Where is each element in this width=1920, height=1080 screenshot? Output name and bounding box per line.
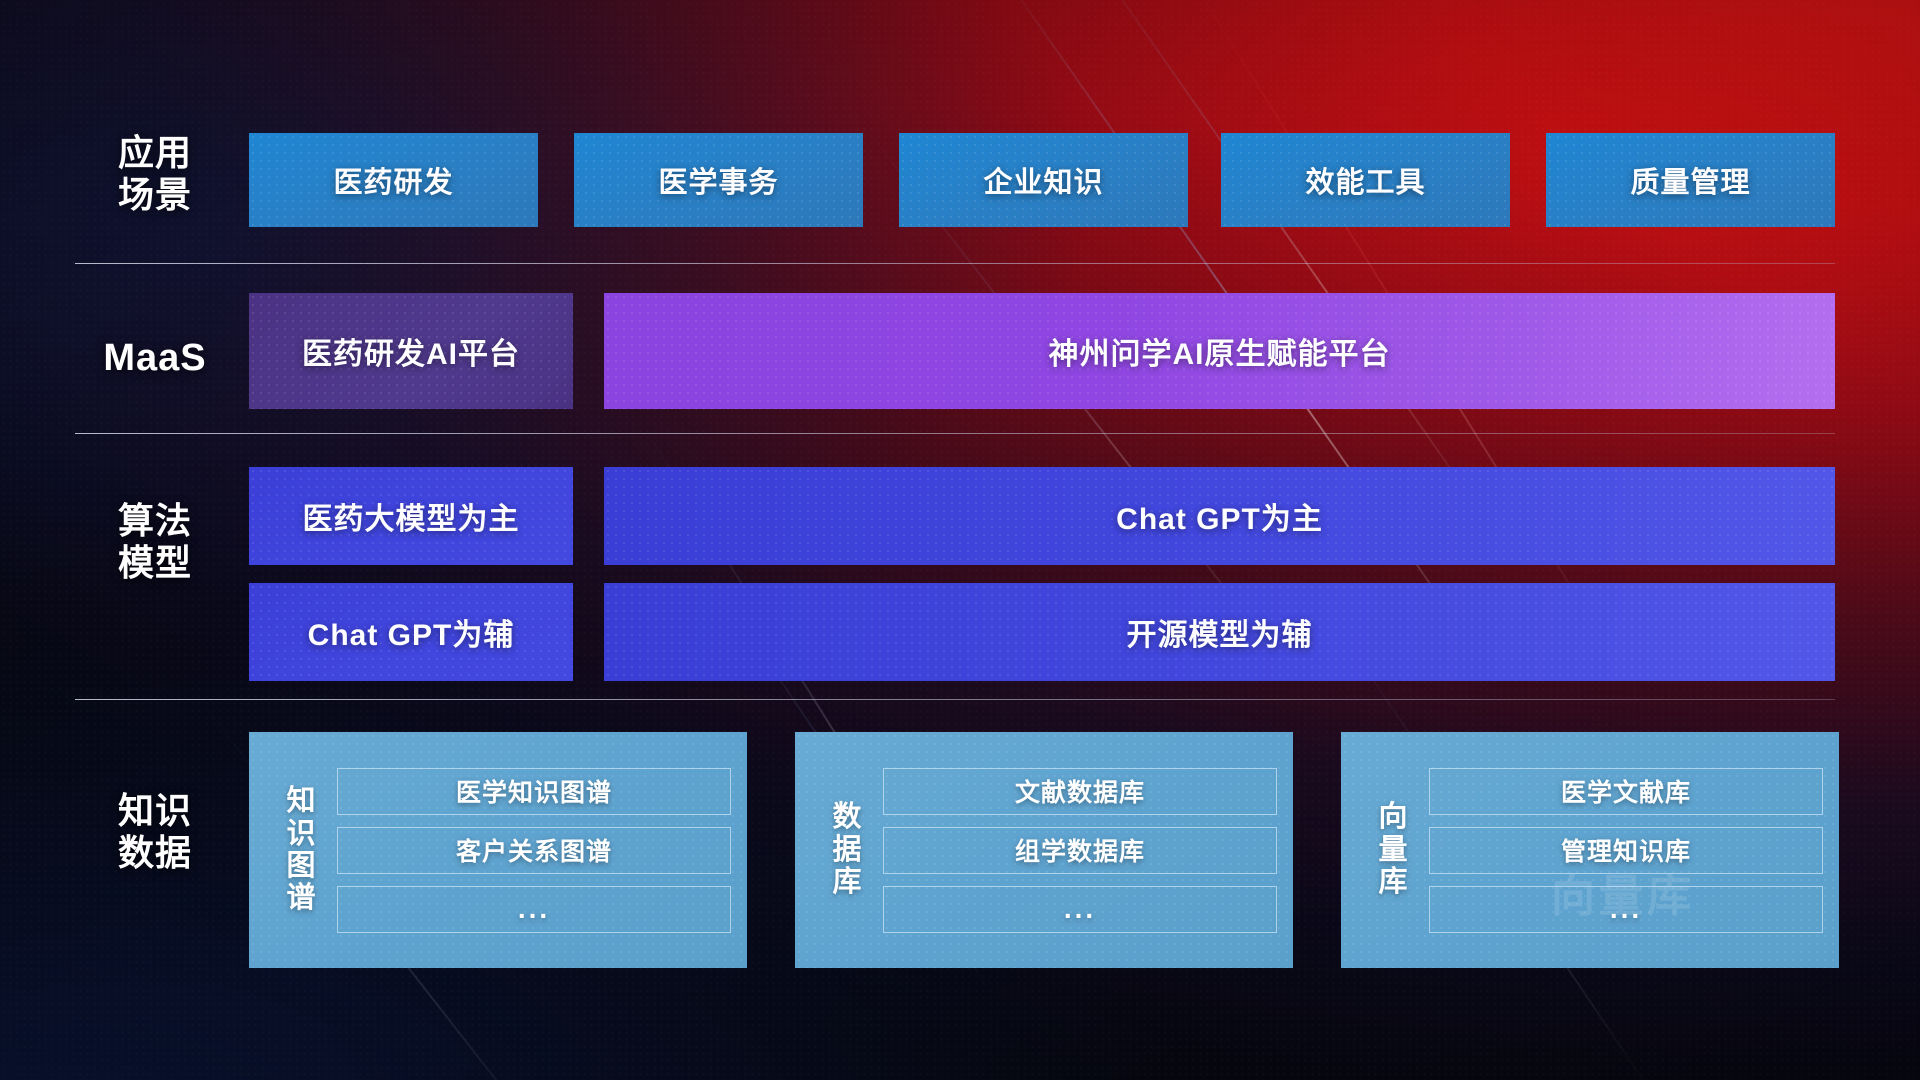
knowledge-item-graph-2[interactable]: 客户关系图谱 <box>337 827 731 874</box>
knowledge-item-vector-2-label: 管理知识库 <box>1561 832 1691 868</box>
knowledge-group-database-items: 文献数据库 组学数据库 ... <box>883 768 1277 933</box>
app-box-5-label: 质量管理 <box>1630 159 1750 201</box>
knowledge-item-database-1[interactable]: 文献数据库 <box>883 768 1277 815</box>
algo-box-opensource-secondary-label: 开源模型为辅 <box>1127 610 1313 654</box>
row-label-maas: MaaS <box>75 336 235 381</box>
divider-application-maas <box>75 263 1835 264</box>
knowledge-group-graph-title: 知 识 图 谱 <box>273 785 329 915</box>
knowledge-item-graph-1-label: 医学知识图谱 <box>456 773 612 809</box>
maas-box-drug-ai-platform-label: 医药研发AI平台 <box>302 329 520 373</box>
app-box-3[interactable]: 企业知识 <box>899 133 1188 227</box>
knowledge-item-database-2-label: 组学数据库 <box>1015 832 1145 868</box>
algo-box-opensource-secondary[interactable]: 开源模型为辅 <box>604 583 1835 681</box>
row-label-knowledge: 知识 数据 <box>75 790 235 875</box>
divider-maas-algorithm <box>75 433 1835 434</box>
knowledge-item-graph-3-label: ... <box>518 893 550 925</box>
row-label-application: 应用 场景 <box>75 132 235 217</box>
knowledge-group-database: 数 据 库 文献数据库 组学数据库 ... <box>795 732 1293 968</box>
knowledge-item-graph-1[interactable]: 医学知识图谱 <box>337 768 731 815</box>
app-box-1[interactable]: 医药研发 <box>249 133 538 227</box>
divider-algorithm-knowledge <box>75 699 1835 700</box>
knowledge-item-graph-2-label: 客户关系图谱 <box>456 832 612 868</box>
slide-canvas: 应用 场景 医药研发 医学事务 企业知识 效能工具 质量管理 MaaS 医药研发… <box>0 0 1920 1080</box>
knowledge-item-vector-2[interactable]: 管理知识库 <box>1429 827 1823 874</box>
knowledge-item-vector-1[interactable]: 医学文献库 <box>1429 768 1823 815</box>
knowledge-item-vector-1-label: 医学文献库 <box>1561 773 1691 809</box>
app-box-2-label: 医学事务 <box>658 159 778 201</box>
knowledge-group-database-title: 数 据 库 <box>819 801 875 898</box>
algo-box-chatgpt-primary[interactable]: Chat GPT为主 <box>604 467 1835 565</box>
maas-box-shenzhou-platform[interactable]: 神州问学AI原生赋能平台 <box>604 293 1835 409</box>
maas-box-drug-ai-platform[interactable]: 医药研发AI平台 <box>249 293 573 409</box>
algo-box-drug-model-primary[interactable]: 医药大模型为主 <box>249 467 573 565</box>
maas-box-shenzhou-platform-label: 神州问学AI原生赋能平台 <box>1049 329 1391 373</box>
app-box-1-label: 医药研发 <box>333 159 453 201</box>
app-box-2[interactable]: 医学事务 <box>574 133 863 227</box>
app-box-4-label: 效能工具 <box>1305 159 1425 201</box>
algo-box-drug-model-primary-label: 医药大模型为主 <box>303 494 520 538</box>
knowledge-group-vector-items: 医学文献库 管理知识库 ... <box>1429 768 1823 933</box>
diagram-content: 应用 场景 医药研发 医学事务 企业知识 效能工具 质量管理 MaaS 医药研发… <box>0 0 1920 1080</box>
knowledge-item-database-3-label: ... <box>1064 893 1096 925</box>
knowledge-item-database-2[interactable]: 组学数据库 <box>883 827 1277 874</box>
app-box-5[interactable]: 质量管理 <box>1546 133 1835 227</box>
knowledge-item-database-1-label: 文献数据库 <box>1015 773 1145 809</box>
knowledge-group-vector: 向量库 向 量 库 医学文献库 管理知识库 ... <box>1341 732 1839 968</box>
row-label-algorithm: 算法 模型 <box>75 500 235 585</box>
algo-box-chatgpt-primary-label: Chat GPT为主 <box>1116 494 1323 538</box>
knowledge-item-vector-3[interactable]: ... <box>1429 886 1823 933</box>
app-box-4[interactable]: 效能工具 <box>1221 133 1510 227</box>
knowledge-item-vector-3-label: ... <box>1610 893 1642 925</box>
app-box-3-label: 企业知识 <box>983 159 1103 201</box>
knowledge-group-graph-items: 医学知识图谱 客户关系图谱 ... <box>337 768 731 933</box>
knowledge-item-graph-3[interactable]: ... <box>337 886 731 933</box>
algo-box-chatgpt-secondary-label: Chat GPT为辅 <box>308 610 515 654</box>
knowledge-group-vector-title: 向 量 库 <box>1365 801 1421 898</box>
knowledge-item-database-3[interactable]: ... <box>883 886 1277 933</box>
knowledge-group-graph: 知 识 图 谱 医学知识图谱 客户关系图谱 ... <box>249 732 747 968</box>
algo-box-chatgpt-secondary[interactable]: Chat GPT为辅 <box>249 583 573 681</box>
